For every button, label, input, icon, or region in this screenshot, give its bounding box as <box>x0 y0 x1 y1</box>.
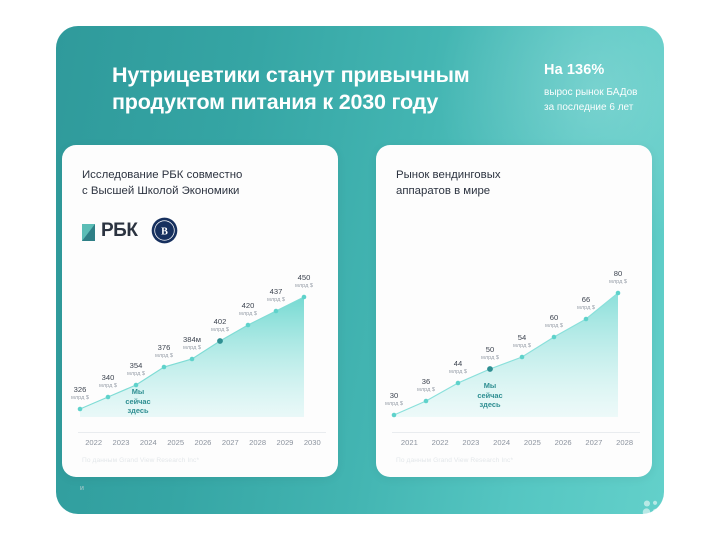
card-title-right: Рынок вендинговых аппаратов в мире <box>396 167 634 199</box>
data-label-3-unit: млрд $ <box>155 353 173 360</box>
card-title-left-line-1: Исследование РБК совместно <box>82 167 320 183</box>
data-label-6: 420 млрд $ <box>239 302 257 318</box>
stat-caption-line-2: за последние 6 лет <box>544 100 664 115</box>
data-label-5: 402 млрд $ <box>211 318 229 334</box>
x-tick-r0: 2021 <box>394 438 425 447</box>
x-axis-right: 2021 2022 2023 2024 2025 2026 2027 2028 <box>394 438 640 447</box>
data-label-4: 384м млрд $ <box>183 336 201 352</box>
stat-caption-line-1: вырос рынок БАДов <box>544 85 664 100</box>
data-label-r3-value: 50 <box>481 346 499 354</box>
x-axis-left: 2022 2023 2024 2025 2026 2027 2028 2029 … <box>80 438 326 447</box>
avito-wordmark: Avito <box>664 498 710 518</box>
data-label-3-value: 376 <box>155 344 173 352</box>
data-label-r6-value: 66 <box>577 296 595 304</box>
avito-watermark: Avito <box>642 498 710 518</box>
stat-caption: вырос рынок БАДов за последние 6 лет <box>544 85 664 115</box>
x-tick-2: 2024 <box>135 438 162 447</box>
card-title-right-line-2: аппаратов в мире <box>396 183 634 199</box>
data-label-5-unit: млрд $ <box>211 327 229 334</box>
card-title-left: Исследование РБК совместно с Высшей Школ… <box>82 167 320 199</box>
x-tick-r5: 2026 <box>548 438 579 447</box>
data-label-6-value: 420 <box>239 302 257 310</box>
x-tick-7: 2029 <box>271 438 298 447</box>
chart-left: 326 млрд $ 340 млрд $ 354 млрд $ 376 млр… <box>62 241 338 441</box>
data-label-r0-unit: млрд $ <box>385 401 403 408</box>
data-label-r1: 36 млрд $ <box>417 378 435 394</box>
here-annotation-left: Мы сейчас здесь <box>125 387 150 416</box>
data-label-3: 376 млрд $ <box>155 344 173 360</box>
rbk-logo-text: РБК <box>101 221 137 240</box>
data-label-4-value: 384м <box>183 336 201 344</box>
svg-text:В: В <box>162 227 169 238</box>
data-label-8-unit: млрд $ <box>295 283 313 290</box>
data-label-r0: 30 млрд $ <box>385 392 403 408</box>
data-label-r4-value: 54 <box>513 334 531 342</box>
data-label-r7-value: 80 <box>609 270 627 278</box>
data-label-4-unit: млрд $ <box>183 345 201 352</box>
data-label-r5-unit: млрд $ <box>545 323 563 330</box>
data-label-r1-value: 36 <box>417 378 435 386</box>
data-label-2: 354 млрд $ <box>127 362 145 378</box>
data-label-r2: 44 млрд $ <box>449 360 467 376</box>
x-tick-5: 2027 <box>217 438 244 447</box>
x-tick-r4: 2025 <box>517 438 548 447</box>
data-label-r4-unit: млрд $ <box>513 343 531 350</box>
data-label-r6: 66 млрд $ <box>577 296 595 312</box>
here-line-3: здесь <box>125 406 150 416</box>
x-tick-r1: 2022 <box>425 438 456 447</box>
data-label-r4: 54 млрд $ <box>513 334 531 350</box>
data-label-7: 437 млрд $ <box>267 288 285 304</box>
data-label-r5: 60 млрд $ <box>545 314 563 330</box>
data-label-0-unit: млрд $ <box>71 395 89 402</box>
data-label-8-value: 450 <box>295 274 313 282</box>
data-label-r5-value: 60 <box>545 314 563 322</box>
here-r-line-3: здесь <box>477 400 502 410</box>
data-label-6-unit: млрд $ <box>239 311 257 318</box>
hse-seal-icon: В <box>151 217 178 244</box>
x-tick-8: 2030 <box>299 438 326 447</box>
data-label-r3-unit: млрд $ <box>481 355 499 362</box>
chart-right: 30 млрд $ 36 млрд $ 44 млрд $ 50 млрд $ … <box>376 241 652 441</box>
card-rbk-research: Исследование РБК совместно с Высшей Школ… <box>62 145 338 477</box>
data-label-r7-unit: млрд $ <box>609 279 627 286</box>
data-label-1-unit: млрд $ <box>99 383 117 390</box>
data-label-r3: 50 млрд $ <box>481 346 499 362</box>
rbk-mark-icon <box>82 220 99 241</box>
card-title-right-line-1: Рынок вендинговых <box>396 167 634 183</box>
x-tick-r3: 2024 <box>486 438 517 447</box>
data-label-8: 450 млрд $ <box>295 274 313 290</box>
axis-line-left <box>78 432 326 433</box>
data-label-0: 326 млрд $ <box>71 386 89 402</box>
logo-row: РБК В <box>82 217 178 244</box>
data-label-1-value: 340 <box>99 374 117 382</box>
x-tick-1: 2023 <box>107 438 134 447</box>
x-tick-4: 2026 <box>189 438 216 447</box>
source-note-right: По данным Grand View Research Inc* <box>396 457 513 464</box>
source-note-left: По данным Grand View Research Inc* <box>82 457 199 464</box>
data-label-5-value: 402 <box>211 318 229 326</box>
data-label-r6-unit: млрд $ <box>577 305 595 312</box>
avito-dots-icon <box>642 499 660 517</box>
here-line-1: Мы <box>125 387 150 397</box>
x-tick-6: 2028 <box>244 438 271 447</box>
here-line-2: сейчас <box>125 397 150 407</box>
data-label-r7: 80 млрд $ <box>609 270 627 286</box>
teal-panel: Нутрицевтики станут привычным продуктом … <box>56 26 664 514</box>
data-label-0-value: 326 <box>71 386 89 394</box>
data-label-7-value: 437 <box>267 288 285 296</box>
x-tick-r6: 2027 <box>579 438 610 447</box>
page-title: Нутрицевтики станут привычным продуктом … <box>112 62 532 116</box>
edge-watermark-fragment: и <box>80 485 84 492</box>
here-r-line-2: сейчас <box>477 391 502 401</box>
data-label-r2-value: 44 <box>449 360 467 368</box>
x-tick-0: 2022 <box>80 438 107 447</box>
x-tick-3: 2025 <box>162 438 189 447</box>
data-label-2-value: 354 <box>127 362 145 370</box>
rbk-logo: РБК <box>82 220 137 241</box>
card-vending-market: Рынок вендинговых аппаратов в мире <box>376 145 652 477</box>
data-label-2-unit: млрд $ <box>127 371 145 378</box>
data-label-r1-unit: млрд $ <box>417 387 435 394</box>
stat-block: На 136% вырос рынок БАДов за последние 6… <box>544 62 664 115</box>
data-label-7-unit: млрд $ <box>267 297 285 304</box>
slide-stage: Нутрицевтики станут привычным продуктом … <box>0 0 720 540</box>
stat-value: На 136% <box>544 62 664 78</box>
data-label-1: 340 млрд $ <box>99 374 117 390</box>
data-label-r2-unit: млрд $ <box>449 369 467 376</box>
here-annotation-right: Мы сейчас здесь <box>477 381 502 410</box>
axis-line-right <box>392 432 640 433</box>
data-label-r0-value: 30 <box>385 392 403 400</box>
card-title-left-line-2: с Высшей Школой Экономики <box>82 183 320 199</box>
x-tick-r2: 2023 <box>456 438 487 447</box>
here-r-line-1: Мы <box>477 381 502 391</box>
x-tick-r7: 2028 <box>609 438 640 447</box>
